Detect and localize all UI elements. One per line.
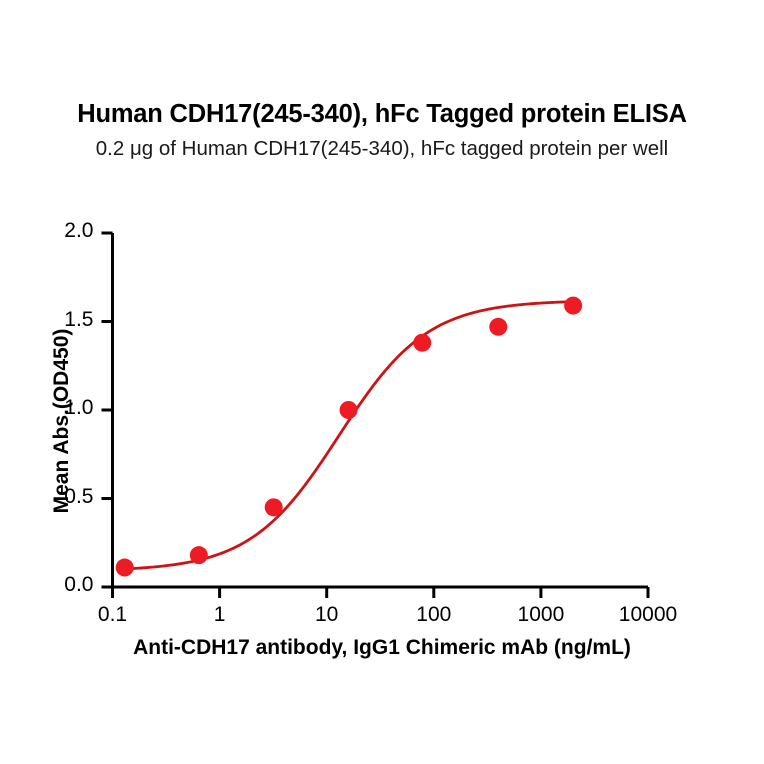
x-tick-label: 1 (160, 603, 280, 627)
y-tick-label: 1.5 (34, 308, 94, 332)
y-axis-title: Mean Abs.(OD450) (50, 256, 74, 586)
data-point-marker (340, 401, 358, 419)
x-ticks-group (113, 587, 649, 598)
fit-curve-path (125, 302, 573, 569)
y-tick-label: 1.0 (34, 396, 94, 420)
x-tick-label: 1000 (481, 603, 601, 627)
axes-group (111, 233, 648, 588)
x-tick-label: 10 (267, 603, 387, 627)
x-tick-label: 10000 (588, 603, 708, 627)
y-ticks-group (102, 233, 113, 587)
data-point-marker (489, 318, 507, 336)
x-axis-title: Anti-CDH17 antibody, IgG1 Chimeric mAb (… (0, 636, 764, 660)
data-point-marker (116, 559, 134, 577)
fit-curve-group (125, 302, 573, 569)
y-tick-label: 0.0 (34, 573, 94, 597)
data-point-marker (413, 334, 431, 352)
data-point-marker (190, 546, 208, 564)
x-tick-label: 100 (374, 603, 494, 627)
data-point-marker (564, 297, 582, 315)
plot-area: Mean Abs.(OD450) Anti-CDH17 antibody, Ig… (0, 0, 764, 764)
y-tick-label: 0.5 (34, 485, 94, 509)
x-tick-label: 0.1 (53, 603, 173, 627)
data-markers-group (116, 297, 582, 577)
data-point-marker (265, 498, 283, 516)
chart-page: Human CDH17(245-340), hFc Tagged protein… (0, 0, 764, 764)
y-tick-label: 2.0 (34, 219, 94, 243)
